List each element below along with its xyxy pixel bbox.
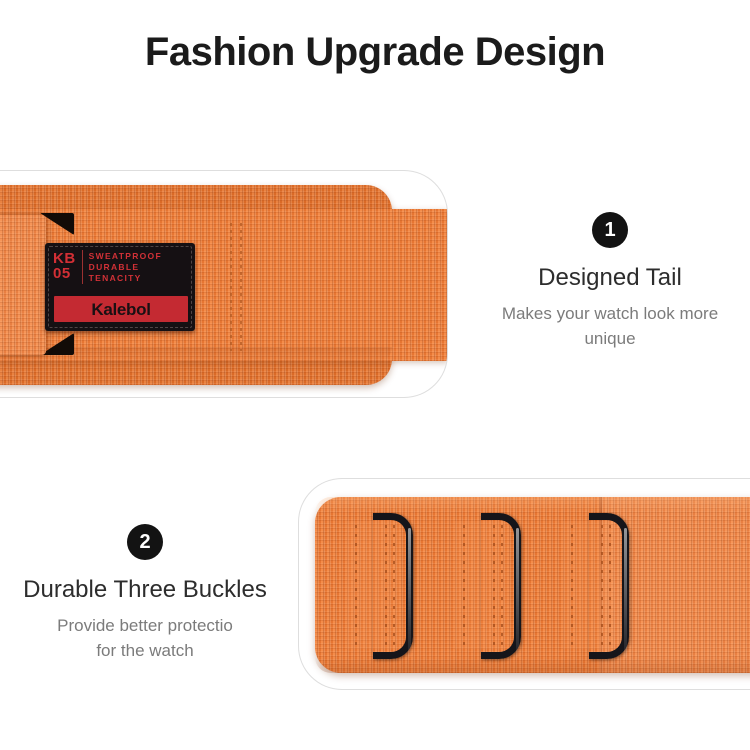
page-title: Fashion Upgrade Design <box>0 30 750 75</box>
feature-description-1-line1: Makes your watch look more <box>470 301 750 326</box>
buckle-loop-2 <box>481 513 521 659</box>
brand-label-claim-3: TENACITY <box>89 273 162 284</box>
brand-name: Kalebol <box>91 301 150 318</box>
feature-description-1: Makes your watch look more unique <box>470 301 750 351</box>
brand-label: KB 05 SWEATPROOF DURABLE TENACITY Kalebo… <box>45 243 195 331</box>
buckle-stitch-1a <box>355 525 357 645</box>
feature-block-1: 1 Designed Tail Makes your watch look mo… <box>470 212 750 351</box>
product-photo-card-buckles <box>298 478 750 690</box>
feature-block-2: 2 Durable Three Buckles Provide better p… <box>0 524 290 663</box>
buckle-loop-3 <box>589 513 629 659</box>
buckle-loop-1 <box>373 513 413 659</box>
feature-description-2-line1: Provide better protectio <box>0 613 290 638</box>
feature-description-2: Provide better protectio for the watch <box>0 613 290 663</box>
brand-label-banner: Kalebol <box>54 296 188 322</box>
brand-label-divider <box>82 250 83 284</box>
feature-number-badge-2: 2 <box>127 524 163 560</box>
feature-title-1: Designed Tail <box>470 264 750 292</box>
brand-label-code-line2: 05 <box>53 266 76 281</box>
brand-label-claims: SWEATPROOF DURABLE TENACITY <box>89 250 162 284</box>
strap-top-highlight <box>315 497 750 513</box>
feature-title-2: Durable Three Buckles <box>0 576 290 604</box>
strap-stitch-line-b <box>240 223 242 351</box>
feature-description-2-line2: for the watch <box>0 638 290 663</box>
brand-label-claim-2: DURABLE <box>89 262 162 273</box>
feature-number-badge-1: 1 <box>592 212 628 248</box>
product-photo-card-tail: KB 05 SWEATPROOF DURABLE TENACITY Kalebo… <box>0 170 448 398</box>
brand-label-code-line1: KB <box>53 251 76 266</box>
strap-bottom-shadow <box>315 657 750 673</box>
brand-label-top-row: KB 05 SWEATPROOF DURABLE TENACITY <box>53 250 189 284</box>
buckle-stitch-3a <box>571 525 573 645</box>
feature-description-1-line2: unique <box>470 326 750 351</box>
buckle-stitch-2a <box>463 525 465 645</box>
brand-label-code: KB 05 <box>53 250 76 281</box>
strap-stitch-line-a <box>230 223 232 351</box>
brand-label-claim-1: SWEATPROOF <box>89 251 162 262</box>
strap-keeper-loop <box>0 215 46 355</box>
